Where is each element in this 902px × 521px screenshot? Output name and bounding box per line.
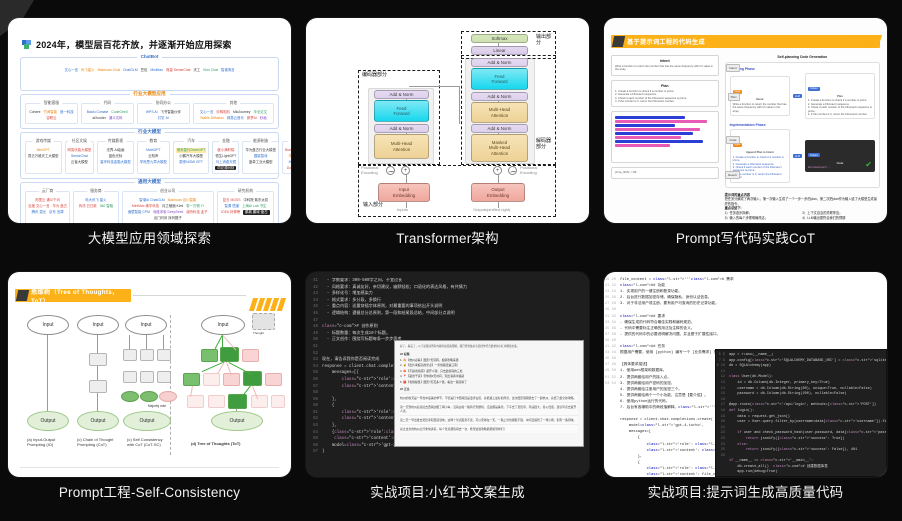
chip: 月之暗面 Kimi bbox=[162, 204, 183, 208]
card-heading: Append Plan to Intent bbox=[733, 151, 787, 154]
chip: 商量 SenseChat bbox=[166, 68, 191, 72]
tot-node-rejected bbox=[242, 349, 259, 362]
connector bbox=[498, 202, 499, 208]
decoder-group-label: 解码器部分 bbox=[536, 138, 554, 151]
connector bbox=[406, 202, 407, 208]
cotsc-thought-node bbox=[157, 349, 171, 361]
notes-body: 把任务分解成了两次输入，第一次输入生成了一个一步一步的plan，第二次把plan… bbox=[725, 197, 880, 206]
chip: CodeGeeX bbox=[111, 110, 128, 114]
band-label: 行业大模型应用 bbox=[129, 91, 169, 97]
card-text: 1. Create a function to check if a numbe… bbox=[808, 99, 872, 116]
slide4-footer-rule bbox=[20, 467, 279, 468]
cotsc-thought-node bbox=[123, 371, 137, 383]
thumbnail-cell-5[interactable]: 41 42 43 44 45 46 47 48 49 50 51 52 53 5… bbox=[306, 272, 589, 508]
title-rule bbox=[133, 295, 246, 296]
softmax-block: Softmax bbox=[471, 34, 528, 43]
chip: MiniMax bbox=[150, 68, 163, 72]
band-industry-models: 行业大模型 游戏传媒 MiniGPT 昆仑万维天工大模型 社区文娱 bbox=[20, 132, 279, 179]
chip: 蓝卓工业大模型 bbox=[249, 160, 273, 164]
band-col: 教育 MathGPT 云知声 学而思九章大模型 bbox=[137, 141, 170, 174]
band-col: 协同办公 WPS AI 飞书智能伙伴 钉钉 AI bbox=[137, 103, 190, 124]
band-label: 通用大模型 bbox=[134, 179, 165, 185]
chip: 零一万物 Yi bbox=[186, 204, 203, 208]
planning-phase-label: Planning Phase bbox=[730, 67, 875, 71]
chip: 飞书智能伙伴 bbox=[161, 110, 181, 114]
chip: 智源 悟道 bbox=[225, 204, 240, 208]
chip: Baichuan-Chat bbox=[98, 68, 120, 72]
output-pill: Output bbox=[808, 87, 820, 91]
assistant-output-popup[interactable]: 好了，看完了，以下是我对所有内容的总结和理解。我已经准备好为您创作符合要求的小红… bbox=[394, 340, 584, 447]
positional-encoding-label-left: Positional Encoding bbox=[361, 165, 385, 175]
chip: 恒生LightGPT bbox=[215, 154, 236, 158]
input-group-label: 输入部分 bbox=[363, 202, 383, 208]
chip: MedGPT bbox=[289, 160, 291, 164]
chip: 天工 bbox=[193, 68, 200, 72]
card-heading: Code bbox=[808, 162, 872, 165]
cotsc-vote-node bbox=[159, 391, 177, 402]
col-label: 智能客服 bbox=[41, 101, 62, 106]
slide1-title: 2024年，模型层百花齐放，并逐渐开始应用探索 bbox=[36, 38, 232, 51]
caption-io: (a) Input-Output Prompting (IO) bbox=[27, 437, 73, 448]
edge bbox=[163, 335, 164, 349]
cotsc-input-node: Input bbox=[125, 315, 167, 335]
input-embedding-block: Input Embedding bbox=[378, 183, 430, 202]
col-label: 游戏传媒 bbox=[33, 139, 54, 144]
slide3-diagram-column: Self-planning Code Generation Planning P… bbox=[725, 55, 880, 220]
intent-box: Intent Write a function to return the nu… bbox=[611, 55, 719, 76]
plan-box: Plan 1. Create a function to check if a … bbox=[611, 80, 719, 108]
chip: 云雀大模型 bbox=[71, 160, 88, 164]
tot-node-selected bbox=[201, 349, 218, 362]
chip: 澜舟科技 孟子 bbox=[186, 210, 207, 214]
box-heading: Plan bbox=[615, 84, 715, 88]
popup-paragraph: 第二天一早出发去灵隐寺和西溪湿地，这两个景点距离不远，可以安排在一天。一路上景色… bbox=[400, 415, 578, 424]
chip: DoctorGLM bbox=[287, 166, 291, 170]
chip: 科大讯飞 星火 bbox=[85, 198, 106, 202]
chip: 小鹏汽车大模型 bbox=[179, 154, 203, 158]
box-text: Write a function to return the number th… bbox=[615, 65, 715, 72]
banner-square-icon bbox=[16, 290, 29, 301]
band-col: 游戏传媒 MiniGPT 昆仑万维天工大模型 bbox=[25, 141, 62, 174]
chip: IDEA 封神榜 bbox=[221, 210, 240, 214]
chip: MidJourney bbox=[233, 110, 251, 114]
chip: MathGPT bbox=[146, 148, 161, 152]
banner-stripes-decoration bbox=[847, 35, 880, 48]
cotsc-vote-node bbox=[140, 391, 158, 402]
divider bbox=[170, 315, 171, 455]
band-col: 文心一言 讯飞星火 Baichuan-Chat ChatGLM 豆包 MiniM… bbox=[25, 66, 274, 86]
tot-diagram: Input Output Input Output Input bbox=[15, 311, 284, 461]
chip: 毫末智行DriveGPT bbox=[176, 148, 206, 152]
thought-legend-label: Thought bbox=[253, 331, 264, 336]
slide-card-xiaohongshu-copy[interactable]: 41 42 43 44 45 46 47 48 49 50 51 52 53 5… bbox=[306, 272, 589, 477]
banner-square-icon bbox=[612, 36, 625, 47]
popup-item: 5. 🎒【省钱秘笈】国庆7天花多少钱，看这一篇就够了 bbox=[400, 380, 578, 384]
thumbnail-cell-1[interactable]: 2024年，模型层百花齐放，并逐渐开始应用探索 ChatBot 文心一言 讯飞星… bbox=[8, 18, 291, 254]
chip: Baichuan 百川智能 bbox=[168, 198, 197, 202]
edge bbox=[146, 335, 147, 349]
chip: 度小满轩辕 bbox=[217, 148, 234, 152]
chip: 通义灵码 bbox=[109, 116, 123, 120]
slide-card-ai-landscape[interactable]: 2024年，模型层百花齐放，并逐渐开始应用探索 ChatBot 文心一言 讯飞星… bbox=[8, 18, 291, 223]
caption-cot: (c) Chain of Thought Prompting (CoT) bbox=[77, 437, 125, 448]
chip: 京东 言犀 bbox=[49, 210, 64, 214]
chip: Baidu Comate bbox=[87, 110, 109, 114]
band-col: 医疗 BianQue 扁鹊 华佗GPT MedGPT DoctorGLM bbox=[282, 141, 291, 174]
popup-item: 4. 📍【避雷干货】带你用3天时间，玩出满满幸福感 bbox=[400, 374, 578, 378]
band-label: ChatBot bbox=[137, 54, 163, 59]
cotsc-thought-node bbox=[140, 349, 154, 361]
result-box: prime_fib(5) -> 89 Result bbox=[611, 167, 719, 178]
decoder-feed-forward: Feed Forward bbox=[471, 68, 528, 90]
slide4-title-banner: 思维树（Tree of Thoughts，ToT） bbox=[15, 289, 131, 302]
tot-node-pruned bbox=[251, 395, 268, 408]
cot-output-node: Output bbox=[77, 411, 119, 431]
band-col: 能源制造 华为盘古行业大模型 国能智深 蓝卓工业大模型 bbox=[242, 141, 279, 174]
band-general-models: 通用大模型 云厂商 阿里云 通义千问 百度 文心一言 华为 盘古 腾讯 混元 京… bbox=[20, 182, 279, 223]
popup-header: 好了，看完了，以下是我对所有内容的总结和理解。我已经准备好为您创作符合要求的小红… bbox=[400, 345, 578, 349]
chip: 上海AI Lab 书生 bbox=[242, 204, 266, 208]
card-caption-3: Prompt写代码实践CoT bbox=[604, 227, 887, 247]
card-caption-1: 大模型应用领域探索 bbox=[8, 227, 291, 247]
chip: 云知声 bbox=[148, 154, 158, 158]
card-text: 1. Create a function to check if a numbe… bbox=[733, 156, 787, 180]
chip: 百度 文心一言 bbox=[28, 204, 49, 208]
chip: WPS AI bbox=[146, 110, 158, 114]
col-label: 代码 bbox=[101, 101, 115, 106]
cot-thought-node bbox=[89, 353, 107, 366]
outputs-label: Outputs(shifted right) bbox=[473, 207, 510, 212]
chip: ChatGLM bbox=[123, 68, 138, 72]
col-label: 云厂商 bbox=[39, 189, 56, 194]
notes-item: 4）LLM输出更符合我们的预期 bbox=[802, 216, 880, 221]
chip: 蓝色光标 bbox=[109, 154, 123, 158]
col-label: 服务商 bbox=[87, 189, 104, 194]
chip: 容联云 bbox=[46, 116, 56, 120]
generated-code-panel[interactable]: 5 6 7 8 9 10 11 12 13 14 15 16 17 18 19 … bbox=[715, 349, 887, 477]
col-label: 教育 bbox=[147, 139, 161, 144]
chip: 华为盘古行业大模型 bbox=[245, 148, 276, 152]
box-text: prime_fib(5) -> 89 bbox=[615, 171, 715, 174]
add-circle-right: + bbox=[493, 166, 502, 175]
popup-paragraph: 总之这次的杭州之行非常满意，每个景点都值得去一次，希望这篇攻略能帮助到你们！ bbox=[400, 424, 578, 433]
decoder-multi-head-attention: Multi-Head Attention bbox=[471, 102, 528, 123]
diagram-title: Self-planning Code Generation bbox=[725, 55, 880, 59]
chip: 国能智深 bbox=[254, 154, 268, 158]
popup-item: 2. 💰【出片率超高的景点】一条线路走遍江南！ bbox=[400, 363, 578, 367]
chip: 鹏城 鹏城·盘古 bbox=[243, 210, 269, 214]
chip: 中科院 紫东太初 bbox=[243, 198, 268, 202]
tot-node-selected bbox=[243, 371, 262, 386]
card-caption-2: Transformer架构 bbox=[306, 227, 589, 247]
encoder-decoder-link bbox=[409, 86, 459, 87]
chip: 复旦 MOSS bbox=[223, 198, 241, 202]
io-input-node: Input bbox=[27, 315, 69, 335]
chip: 毕业论文 bbox=[253, 110, 267, 114]
tot-node-pruned bbox=[203, 373, 220, 386]
col-label: 医疗 bbox=[289, 139, 291, 144]
tot-node-selected bbox=[183, 373, 200, 386]
chip-list: 文心一言 讯飞星火 Baichuan-Chat ChatGLM 豆包 MiniM… bbox=[27, 68, 272, 72]
chip: 出门问问 序列猴子 bbox=[154, 216, 182, 220]
chip: 腾讯 混元 bbox=[32, 210, 47, 214]
chip: MiniGPT bbox=[37, 148, 50, 152]
chip: 豆包 bbox=[141, 68, 148, 72]
line-number-gutter: 19 20 21 22 23 24 25 26 27 28 29 30 31 3… bbox=[604, 277, 620, 477]
box-heading: Intent bbox=[615, 59, 715, 63]
self-planning-panel: Planning Phase Input Intent Write a func… bbox=[725, 62, 880, 188]
band-col: 创业公司 智谱AI ChatGLM Baichuan 百川智能 MiniMax … bbox=[122, 191, 214, 223]
decoder-masked-multi-head-attention: Masked Multi-Head Attention bbox=[471, 134, 528, 162]
chip: 秒画 bbox=[260, 116, 267, 120]
card-text: def solution(arr): ... bbox=[808, 166, 872, 169]
band-col: 智能客服 Cohere 竹间智能 追一科技 容联云 bbox=[25, 103, 78, 124]
chip: 360 智脑 bbox=[100, 204, 113, 208]
chip: 智谱清言 bbox=[221, 68, 235, 72]
chip: 文心一言 bbox=[200, 110, 214, 114]
chip: 蔚来NOMI GPT bbox=[179, 160, 203, 164]
popup-section-title: ## 标题 bbox=[400, 352, 578, 356]
slide3-title-banner: 基于提示词工程的代码生成 bbox=[611, 35, 880, 48]
positional-encoding-label-right: Positional Encoding bbox=[520, 165, 546, 175]
encoder-add-norm-2: Add & Norm bbox=[374, 90, 429, 99]
col-label: 研究机构 bbox=[235, 189, 256, 194]
impl-output-card: Output Code def solution(arr): ... ✔ bbox=[805, 140, 875, 173]
screenshot-root: 2024年，模型层百花齐放，并逐渐开始应用探索 ChatBot 文心一言 讯飞星… bbox=[0, 0, 902, 521]
flow-tag: Intent bbox=[726, 64, 740, 72]
popup-paragraph: 杭州的秋天是一年当中最美的季节，不管是打卡西湖还是漫步古街，总能遇上最好的风景。… bbox=[400, 393, 578, 402]
code-box: Code bbox=[611, 111, 719, 163]
encoder-feed-forward: Feed Forward bbox=[374, 100, 429, 122]
planning-output-card: Output Plan 1. Create a function to chec… bbox=[805, 73, 875, 119]
chip: BianQue 扁鹊 bbox=[285, 148, 291, 152]
cot-edge bbox=[97, 393, 98, 411]
band-col: 服务商 科大讯飞 星火 商汤 日日新 360 智脑 bbox=[73, 191, 118, 223]
band-industry-apps: 行业大模型应用 智能客服 Cohere 竹间智能 追一科技 容联云 bbox=[20, 94, 279, 129]
band-col: 研究机构 复旦 MOSS 中科院 紫东太初 智源 悟道 上海AI Lab 书生 … bbox=[217, 191, 274, 223]
slide3-notes: 提示词的重点内容 把任务分解成了两次输入，第一次输入生成了一个一步一步的plan… bbox=[725, 193, 880, 221]
cotsc-thought-node bbox=[140, 371, 154, 383]
tot-node-rejected bbox=[265, 373, 282, 386]
thumbnail-grid: 2024年，模型层百花齐放，并逐渐开始应用探索 ChatBot 文心一言 讯飞星… bbox=[8, 18, 894, 513]
decoder-add-norm-2: Add & Norm bbox=[471, 92, 528, 101]
chip: 学而思九章大模型 bbox=[140, 160, 167, 164]
card-caption-5: 实战项目:小红书文案生成 bbox=[306, 481, 589, 501]
card-caption-4: Prompt工程-Self-Consistency bbox=[8, 481, 291, 501]
transformer-diagram: 编码器部分 解码器部分 输出部分 输入部分 bbox=[314, 26, 581, 215]
slide4-title: 思维树（Tree of Thoughts，ToT） bbox=[31, 287, 131, 305]
cot-thought-node bbox=[89, 380, 107, 393]
flow-tag: Code bbox=[726, 136, 739, 144]
col-label: 能源制造 bbox=[250, 139, 271, 144]
chip: SenseChat bbox=[71, 154, 88, 158]
chip: 妙鸭相机 bbox=[216, 110, 230, 114]
chip: Kimi Chat bbox=[203, 68, 218, 72]
chip: 追一科技 bbox=[60, 110, 74, 114]
band-col: 云厂商 阿里云 通义千问 百度 文心一言 华为 盘古 腾讯 混元 京东 言犀 bbox=[25, 191, 70, 223]
flow-tag: Plan bbox=[728, 93, 740, 101]
encoder-multi-head-attention: Multi-Head Attention bbox=[374, 134, 429, 159]
linear-block: Linear bbox=[471, 46, 528, 55]
output-pill: Output bbox=[808, 153, 820, 157]
cot-edge bbox=[97, 335, 98, 353]
positional-wave-icon-right bbox=[508, 166, 517, 175]
chip: 网易云音乐 bbox=[227, 116, 244, 120]
band-col: 传媒影视 无界-AI绘画 蓝色光标 星环科技金融大模型 bbox=[97, 141, 134, 174]
line-number-gutter: 5 6 7 8 9 10 11 12 13 14 15 16 17 18 19 … bbox=[716, 353, 729, 476]
flow-tag: Result bbox=[725, 171, 740, 179]
decoder-add-norm-1: Add & Norm bbox=[471, 124, 528, 133]
connector bbox=[459, 86, 460, 124]
io-output-node: Output bbox=[27, 411, 69, 431]
col-label: 汽车 bbox=[184, 139, 198, 144]
card-heading: Plan bbox=[808, 95, 872, 98]
chip: 文心一言 bbox=[64, 68, 78, 72]
chip: 网易伏羲大模型 bbox=[68, 148, 92, 152]
chip: 马上消费天镜 bbox=[216, 160, 236, 164]
logo-icon bbox=[22, 40, 31, 49]
caption-tot: (d) Tree of Thoughts (ToT) bbox=[191, 441, 240, 446]
chip: Stable Diffusion bbox=[200, 116, 224, 120]
tot-input-node: Input bbox=[201, 315, 245, 335]
slide-card-prompt-codegen[interactable]: 基于提示词工程的代码生成 Intent Write a function to … bbox=[604, 18, 887, 223]
band-col: 其他 文心一言 妙鸭相机 MidJourney 毕业论文 Stable Diff… bbox=[193, 103, 274, 124]
cotsc-output-node: Output bbox=[123, 411, 171, 431]
card-caption-6: 实战项目:提示词生成高质量代码 bbox=[604, 481, 887, 501]
chip: 昆仑万维天工大模型 bbox=[28, 154, 59, 158]
banner-stripes-decoration bbox=[251, 298, 284, 311]
slide-card-transformer[interactable]: 编码器部分 解码器部分 输出部分 输入部分 bbox=[306, 18, 589, 223]
edge bbox=[129, 335, 130, 349]
chip: 阿里云 通义千问 bbox=[35, 198, 60, 202]
tot-node-pruned bbox=[208, 395, 225, 408]
col-label: 金融 bbox=[219, 139, 233, 144]
cotsc-vote-node bbox=[121, 391, 139, 402]
band-label: 行业大模型 bbox=[134, 129, 165, 135]
popup-item: 1. 🔥【杭州必看】国庆7天玩转，超值攻略来袭 bbox=[400, 358, 578, 362]
chip: Cohere bbox=[29, 110, 40, 114]
thumbnail-cell-2[interactable]: 编码器部分 解码器部分 输出部分 输入部分 bbox=[306, 18, 589, 254]
chip: 面壁智能 CPM bbox=[128, 210, 150, 214]
chip: 讯飞星火 bbox=[81, 68, 95, 72]
cotsc-thought-node bbox=[123, 349, 137, 361]
col-label: 社区文娱 bbox=[69, 139, 90, 144]
cot-edge bbox=[97, 366, 98, 380]
chip: MiniMax 稀宇科技 bbox=[132, 204, 159, 208]
thumbnail-cell-4[interactable]: 思维树（Tree of Thoughts，ToT） Input Output I… bbox=[8, 272, 291, 508]
chip: 钉钉 AI bbox=[158, 116, 169, 120]
col-label: 创业公司 bbox=[157, 189, 178, 194]
popup-body-title: ## 正文 bbox=[400, 387, 578, 391]
chip: aiXcoder bbox=[92, 116, 105, 120]
llm-pill: LLM bbox=[793, 94, 802, 98]
thumbnail-cell-6[interactable]: 19 20 21 22 23 24 25 26 27 28 29 30 31 3… bbox=[604, 272, 887, 508]
slide3-title: 基于提示词工程的代码生成 bbox=[627, 37, 705, 46]
col-label: 传媒影视 bbox=[105, 139, 126, 144]
chip: 竹间智能 bbox=[43, 110, 57, 114]
slide3-flow-column: Intent Write a function to return the nu… bbox=[611, 55, 719, 220]
chip: 华佗GPT bbox=[289, 154, 291, 158]
output-group-label: 输出部分 bbox=[536, 34, 552, 47]
llm-pill: LLM bbox=[793, 154, 802, 158]
tot-legend-thought bbox=[252, 313, 275, 330]
chip: 即梦AI bbox=[247, 116, 257, 120]
positional-wave-icon-left bbox=[386, 166, 395, 175]
col-label: 协同办公 bbox=[153, 101, 174, 106]
generated-code-content[interactable]: app = Flask(__name__) app.config[class="… bbox=[729, 353, 886, 476]
band-col: 金融 度小满轩辕 恒生LightGPT 马上消费天镜 同花顺问财 bbox=[212, 141, 239, 174]
tot-node-selected bbox=[228, 394, 247, 409]
cot-input-node: Input bbox=[77, 315, 119, 335]
chip: 商汤 日日新 bbox=[79, 204, 97, 208]
band-col: 社区文娱 网易伏羲大模型 SenseChat 云雀大模型 bbox=[65, 141, 95, 174]
slide1-title-row: 2024年，模型层百花齐放，并逐渐开始应用探索 bbox=[22, 38, 283, 51]
card-text: Write a function to return the number th… bbox=[733, 103, 787, 113]
popup-paragraph: 第一天到杭州后直接去西湖边租了辆小车，沿着白堤一路骑行到断桥，沿途都是美景。下午… bbox=[400, 402, 578, 415]
col-label: 其他 bbox=[227, 101, 241, 106]
box-text: 1. Create a function to check if a numbe… bbox=[615, 90, 715, 104]
chip: 深度求索 DeepSeek bbox=[153, 210, 183, 214]
chip: 无界-AI绘画 bbox=[107, 148, 125, 152]
popup-item: 3. 🍁【不踩雷指南】避开人潮，只去最值得的三处 bbox=[400, 369, 578, 373]
chip: 星环科技金融大模型 bbox=[100, 160, 131, 164]
tot-node-pruned bbox=[187, 395, 204, 408]
caption-cotsc: (c) Self Consistency with CoT (CoT-SC) bbox=[127, 437, 177, 448]
check-icon: ✔ bbox=[865, 160, 872, 169]
band-col: 汽车 毫末智行DriveGPT 小鹏汽车大模型 蔚来NOMI GPT bbox=[173, 141, 209, 174]
band-chatbot: ChatBot 文心一言 讯飞星火 Baichuan-Chat ChatGLM … bbox=[20, 57, 279, 91]
implementation-phase-label: Implementation Phase bbox=[730, 123, 875, 127]
thumbnail-cell-3[interactable]: 基于提示词工程的代码生成 Intent Write a function to … bbox=[604, 18, 887, 254]
encoder-group-label: 编码器部分 bbox=[362, 72, 387, 78]
line-number-gutter: 41 42 43 44 45 46 47 48 49 50 51 52 53 5… bbox=[306, 278, 322, 456]
io-edge bbox=[47, 335, 48, 411]
majority-vote-label: Majority vote bbox=[148, 404, 166, 409]
notes-item: 3）输入的每个步骤明确简洁； bbox=[725, 216, 803, 221]
chip: 同花顺问财 bbox=[215, 166, 236, 170]
output-embedding-block: Output Embedding bbox=[471, 183, 525, 202]
tot-output-node: Output bbox=[211, 411, 263, 431]
slide-card-tree-of-thoughts[interactable]: 思维树（Tree of Thoughts，ToT） Input Output I… bbox=[8, 272, 291, 477]
encoder-add-norm-1: Add & Norm bbox=[374, 124, 429, 133]
slide3-body: Intent Write a function to return the nu… bbox=[611, 55, 880, 220]
decoder-add-norm-3: Add & Norm bbox=[471, 58, 528, 67]
slide-card-codegen-quality[interactable]: 19 20 21 22 23 24 25 26 27 28 29 30 31 3… bbox=[604, 272, 887, 477]
add-circle-left: + bbox=[401, 166, 410, 175]
chip: 智谱AI ChatGLM bbox=[139, 198, 164, 202]
tot-node-pruned bbox=[271, 395, 285, 408]
card-heading: Intent bbox=[733, 98, 787, 101]
band-col: 代码 Baidu Comate CodeGeeX aiXcoder 通义灵码 bbox=[81, 103, 134, 124]
cotsc-thought-node bbox=[157, 371, 171, 383]
chip: 华为 盘古 bbox=[53, 204, 68, 208]
